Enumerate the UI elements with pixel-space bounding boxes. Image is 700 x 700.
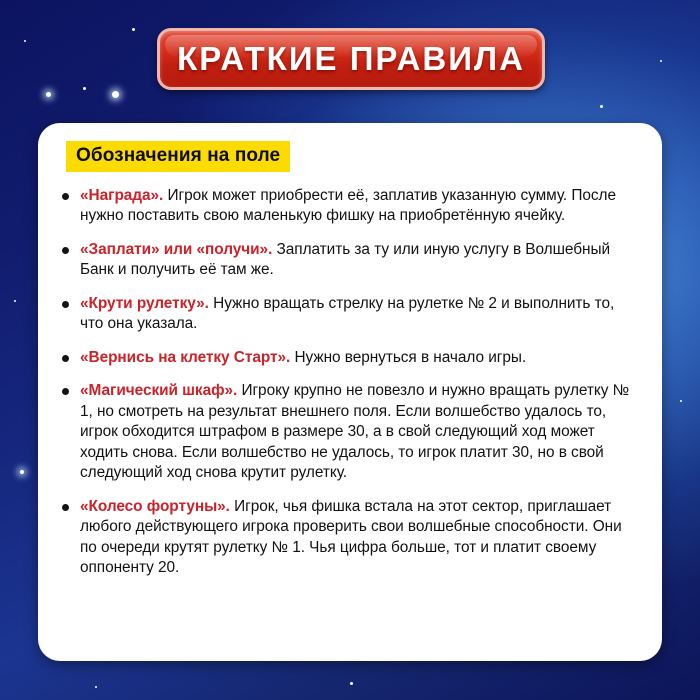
star-icon xyxy=(20,470,24,474)
rule-term: «Колесо фортуны». xyxy=(80,498,230,515)
page-title: КРАТКИЕ ПРАВИЛА xyxy=(177,40,525,78)
title-banner: КРАТКИЕ ПРАВИЛА xyxy=(157,28,545,90)
rule-item: «Заплати» или «получи». Заплатить за ту … xyxy=(52,240,640,281)
bullet-icon xyxy=(62,193,69,200)
star-icon xyxy=(600,105,603,108)
bullet-icon xyxy=(62,301,69,308)
star-icon xyxy=(46,92,51,97)
star-icon xyxy=(112,91,119,98)
star-icon xyxy=(132,28,135,31)
section-header-badge: Обозначения на поле xyxy=(66,141,290,172)
star-icon xyxy=(350,682,353,685)
rule-item: «Магический шкаф». Игроку крупно не пове… xyxy=(52,381,640,483)
rule-item: «Награда». Игрок может приобрести её, за… xyxy=(52,186,640,227)
rule-item: «Вернись на клетку Старт». Нужно вернуть… xyxy=(52,348,640,368)
section-header-label: Обозначения на поле xyxy=(76,145,280,166)
rules-list: «Награда». Игрок может приобрести её, за… xyxy=(52,186,640,579)
star-icon xyxy=(680,400,682,402)
rule-body: Нужно вернуться в начало игры. xyxy=(294,349,526,366)
rule-term: «Крути рулетку». xyxy=(80,295,209,312)
rule-term: «Награда». xyxy=(80,187,163,204)
rule-item: «Колесо фортуны». Игрок, чья фишка встал… xyxy=(52,497,640,579)
star-icon xyxy=(83,87,86,90)
rule-term: «Заплати» или «получи». xyxy=(80,241,272,258)
bullet-icon xyxy=(62,247,69,254)
rules-card: Обозначения на поле «Награда». Игрок мож… xyxy=(38,123,662,661)
star-icon xyxy=(14,300,16,302)
bullet-icon xyxy=(62,355,69,362)
rule-term: «Вернись на клетку Старт». xyxy=(80,349,290,366)
star-icon xyxy=(660,60,662,62)
star-icon xyxy=(95,686,97,688)
bullet-icon xyxy=(62,504,69,511)
page-root: КРАТКИЕ ПРАВИЛА Обозначения на поле «Наг… xyxy=(0,0,700,700)
bullet-icon xyxy=(62,388,69,395)
rule-item: «Крути рулетку». Нужно вращать стрелку н… xyxy=(52,294,640,335)
star-icon xyxy=(24,40,26,42)
rule-term: «Магический шкаф». xyxy=(80,382,237,399)
